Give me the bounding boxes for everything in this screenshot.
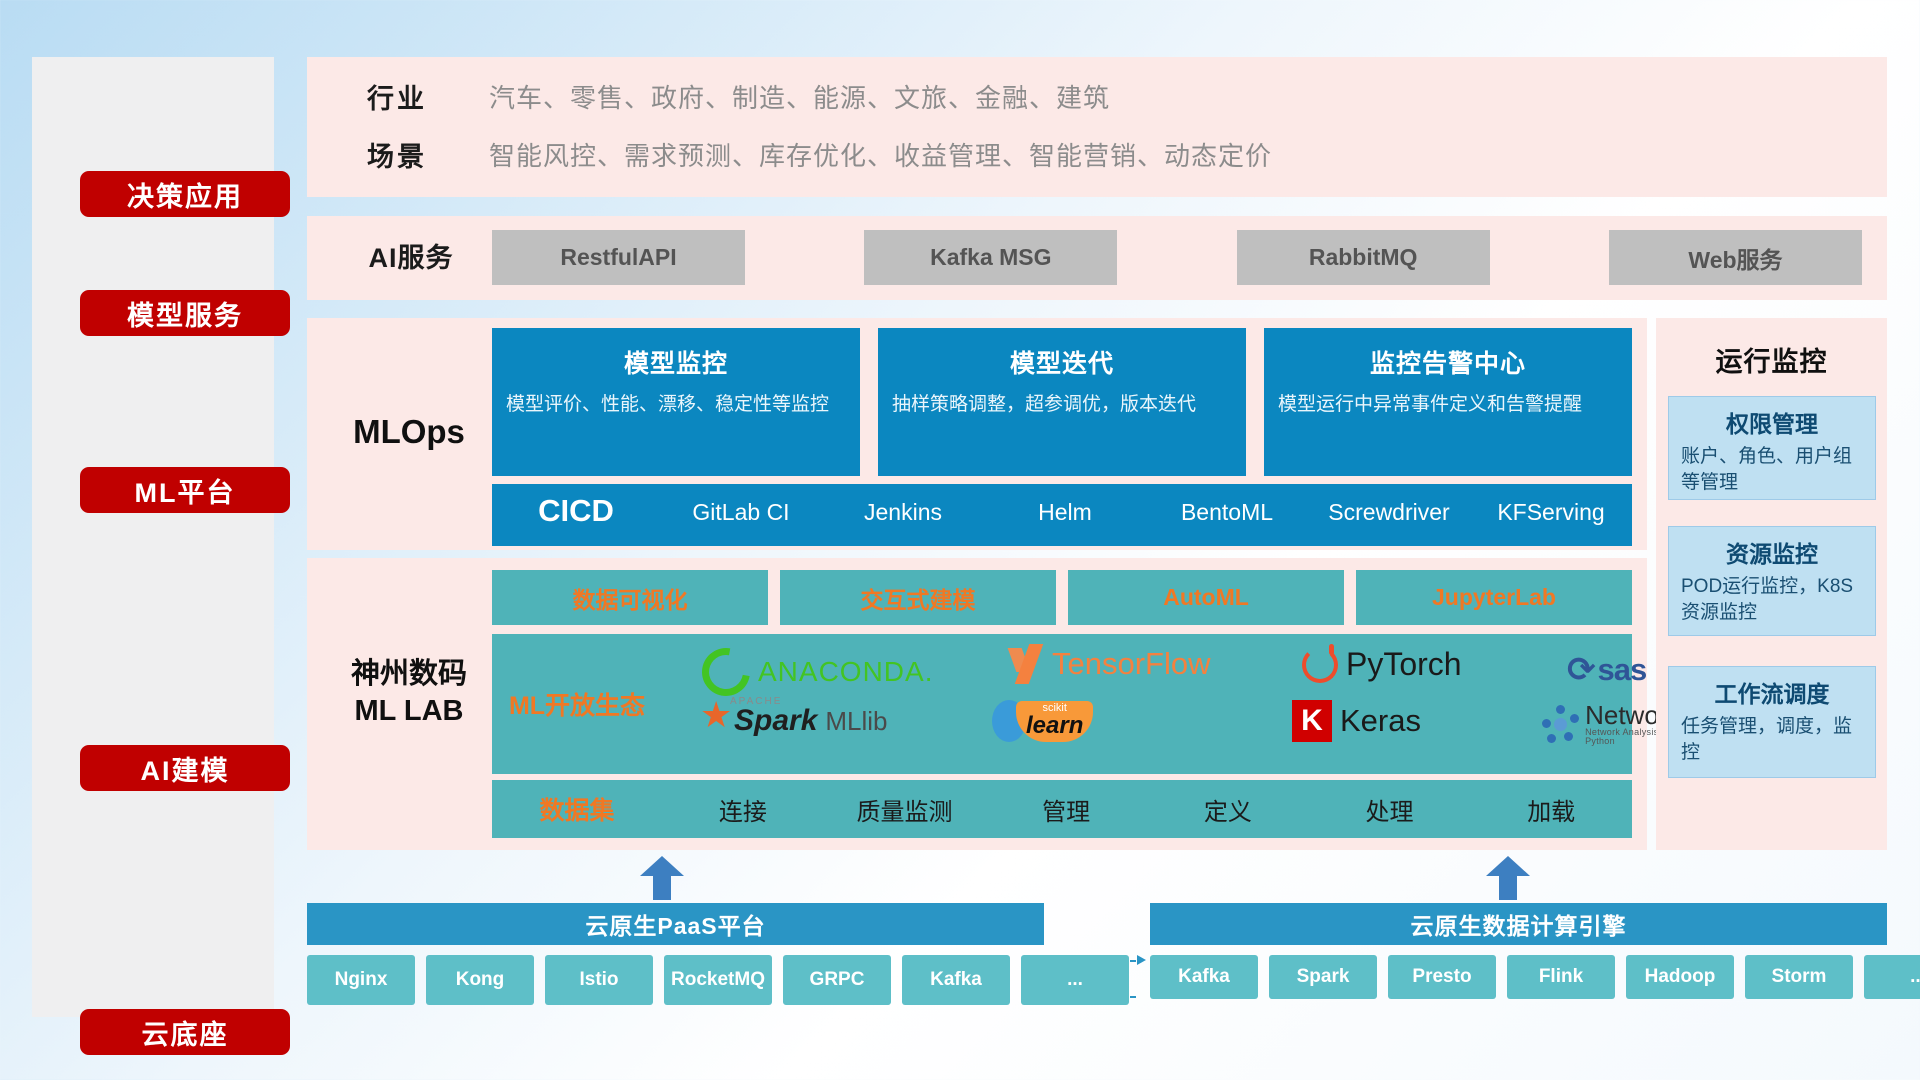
card-desc: 模型评价、性能、漂移、稳定性等监控 [506,392,846,418]
sas-wordmark: sas [1598,652,1647,688]
keras-wordmark: Keras [1340,703,1421,739]
service-restful-api[interactable]: RestfulAPI [492,230,745,285]
chip-more-right[interactable]: ... [1864,955,1920,999]
keras-k-glyph: K [1301,704,1323,738]
ml-lab-label: 神州数码 ML LAB [319,656,499,730]
scikit-bottom-text: learn [1026,712,1083,739]
mllib-wordmark: MLlib [825,706,887,737]
chip-kong[interactable]: Kong [426,955,534,1005]
dataset-item-connect[interactable]: 连接 [662,792,824,827]
chip-kafka-right[interactable]: Kafka [1150,955,1258,999]
runtime-monitor-panel: 运行监控 权限管理 账户、角色、用户组等管理 资源监控 POD运行监控，K8S资… [1656,318,1887,850]
monitor-card-permission[interactable]: 权限管理 账户、角色、用户组等管理 [1668,396,1876,500]
card-desc: POD运行监控，K8S资源监控 [1681,574,1863,625]
industry-value: 汽车、零售、政府、制造、能源、文旅、金融、建筑 [489,78,1110,115]
pytorch-wordmark: PyTorch [1346,646,1462,683]
data-engine-chip-row: Kafka Spark Presto Flink Hadoop Storm ..… [1150,955,1920,1005]
ai-service-list: RestfulAPI Kafka MSG RabbitMQ Web服务 [492,230,1862,286]
chip-nginx[interactable]: Nginx [307,955,415,1005]
spark-star-icon: APACHE [702,706,732,736]
anaconda-wordmark: ANACONDA. [758,656,933,688]
monitor-card-workflow[interactable]: 工作流调度 任务管理，调度，监控 [1668,666,1876,778]
card-desc: 模型运行中异常事件定义和告警提醒 [1278,392,1618,418]
spark-apache-label: APACHE [730,696,782,707]
cicd-item-jenkins[interactable]: Jenkins [822,484,984,527]
left-rail: 决策应用 模型服务 ML平台 AI建模 云底座 [32,57,274,1017]
ai-service-label: AI服务 [341,236,481,275]
scikit-card-icon: scikit learn [1016,701,1093,742]
sas-swirl-icon: ⟳ [1567,650,1596,690]
architecture-diagram: 决策应用 模型服务 ML平台 AI建模 云底座 行业 汽车、零售、政府、制造、能… [0,0,1920,1080]
industry-scene-band: 行业 汽车、零售、政府、制造、能源、文旅、金融、建筑 场景 智能风控、需求预测、… [307,57,1887,197]
dataset-bar: 数据集 连接 质量监测 管理 定义 处理 加载 [492,780,1632,838]
cicd-item-screwdriver[interactable]: Screwdriver [1308,484,1470,527]
tensorflow-wordmark: TensorFlow [1052,646,1211,682]
chip-hadoop[interactable]: Hadoop [1626,955,1734,999]
paas-chip-row: Nginx Kong Istio RocketMQ GRPC Kafka ... [307,955,1129,1005]
dataset-item-definition[interactable]: 定义 [1147,792,1309,827]
networkx-graph-icon [1542,705,1579,743]
dataset-item-processing[interactable]: 处理 [1309,792,1471,827]
tensorflow-mark-icon [1012,644,1046,684]
rail-item-model-service[interactable]: 模型服务 [80,290,290,336]
tool-data-visualization[interactable]: 数据可视化 [492,570,768,625]
scene-row: 场景 智能风控、需求预测、库存优化、收益管理、智能营销、动态定价 [337,135,1272,174]
chip-rocketmq[interactable]: RocketMQ [664,955,772,1005]
ml-tool-row: 数据可视化 交互式建模 AutoML JupyterLab [492,570,1632,626]
cicd-label: CICD [492,484,660,529]
industry-row: 行业 汽车、零售、政府、制造、能源、文旅、金融、建筑 [337,77,1110,116]
cicd-item-helm[interactable]: Helm [984,484,1146,527]
scene-label: 场景 [337,135,457,174]
keras-logo: K Keras [1292,700,1421,742]
card-desc: 账户、角色、用户组等管理 [1681,444,1863,495]
scikit-learn-logo: scikit learn [992,700,1093,742]
chip-kafka-left[interactable]: Kafka [902,955,1010,1005]
rail-item-ml-platform[interactable]: ML平台 [80,467,290,513]
anaconda-logo: ANACONDA. [702,648,933,696]
tensorflow-logo: TensorFlow [1012,644,1211,684]
dataset-label: 数据集 [492,791,662,827]
card-title: 模型监控 [492,344,860,380]
card-title: 权限管理 [1681,405,1863,439]
spark-wordmark: Spark [734,704,817,738]
ai-service-band: AI服务 RestfulAPI Kafka MSG RabbitMQ Web服务 [307,216,1887,300]
chip-grpc[interactable]: GRPC [783,955,891,1005]
dataset-item-management[interactable]: 管理 [985,792,1147,827]
service-kafka-msg[interactable]: Kafka MSG [864,230,1117,285]
monitor-card-resource[interactable]: 资源监控 POD运行监控，K8S资源监控 [1668,526,1876,636]
ml-lab-band: 神州数码 ML LAB 数据可视化 交互式建模 AutoML JupyterLa… [307,558,1647,850]
service-web[interactable]: Web服务 [1609,230,1862,285]
scene-value: 智能风控、需求预测、库存优化、收益管理、智能营销、动态定价 [489,136,1272,173]
mlops-card-model-iteration[interactable]: 模型迭代 抽样策略调整，超参调优，版本迭代 [878,328,1246,476]
arrow-up-paas-icon [640,856,684,900]
cloud-data-engine-banner[interactable]: 云原生数据计算引擎 [1150,903,1887,945]
rail-item-ai-modeling[interactable]: AI建模 [80,745,290,791]
sas-logo: ⟳ sas [1567,650,1646,690]
card-desc: 抽样策略调整，超参调优，版本迭代 [892,392,1232,418]
chip-flink[interactable]: Flink [1507,955,1615,999]
ml-lab-label-line1: 神州数码 [351,658,467,690]
chip-storm[interactable]: Storm [1745,955,1853,999]
cicd-item-bentoml[interactable]: BentoML [1146,484,1308,527]
ml-ecosystem-logos: ANACONDA. TensorFlow PyTorch ⟳ sas [662,634,1632,774]
spark-mllib-logo: APACHE Spark MLlib [702,704,888,738]
chip-spark[interactable]: Spark [1269,955,1377,999]
mlops-card-alert-center[interactable]: 监控告警中心 模型运行中异常事件定义和告警提醒 [1264,328,1632,476]
ml-ecosystem-box: ML开放生态 ANACONDA. TensorFlow PyTorch [492,634,1632,774]
card-title: 监控告警中心 [1264,344,1632,380]
tool-automl[interactable]: AutoML [1068,570,1344,625]
chip-istio[interactable]: Istio [545,955,653,1005]
rail-item-cloud-base[interactable]: 云底座 [80,1009,290,1055]
mlops-card-row: 模型监控 模型评价、性能、漂移、稳定性等监控 模型迭代 抽样策略调整，超参调优，… [492,328,1632,476]
ml-lab-label-line2: ML LAB [354,695,463,727]
pytorch-logo: PyTorch [1302,646,1462,683]
rail-item-decision-app[interactable]: 决策应用 [80,171,290,217]
cloud-paas-banner[interactable]: 云原生PaaS平台 [307,903,1044,945]
cicd-item-kfserving[interactable]: KFServing [1470,484,1632,527]
industry-label: 行业 [337,77,457,116]
card-title: 资源监控 [1681,535,1863,569]
mlops-band: MLOps 模型监控 模型评价、性能、漂移、稳定性等监控 模型迭代 抽样策略调整… [307,318,1647,550]
tool-interactive-modeling[interactable]: 交互式建模 [780,570,1056,625]
card-desc: 任务管理，调度，监控 [1681,714,1863,765]
chip-presto[interactable]: Presto [1388,955,1496,999]
tool-jupyterlab[interactable]: JupyterLab [1356,570,1632,625]
chip-more-left[interactable]: ... [1021,955,1129,1005]
ml-ecosystem-label: ML开放生态 [492,686,662,722]
runtime-monitor-title: 运行监控 [1656,318,1887,379]
dataset-item-quality-monitoring[interactable]: 质量监测 [824,792,986,827]
pytorch-flame-icon [1302,647,1338,683]
arrow-up-data-engine-icon [1486,856,1530,900]
cicd-bar: CICD GitLab CI Jenkins Helm BentoML Scre… [492,484,1632,546]
keras-mark-icon: K [1292,700,1332,742]
mlops-label: MLOps [329,413,489,451]
card-title: 工作流调度 [1681,675,1863,709]
mlops-card-model-monitoring[interactable]: 模型监控 模型评价、性能、漂移、稳定性等监控 [492,328,860,476]
card-title: 模型迭代 [878,344,1246,380]
cicd-item-gitlab-ci[interactable]: GitLab CI [660,484,822,527]
service-rabbitmq[interactable]: RabbitMQ [1237,230,1490,285]
dataset-item-loading[interactable]: 加载 [1470,792,1632,827]
